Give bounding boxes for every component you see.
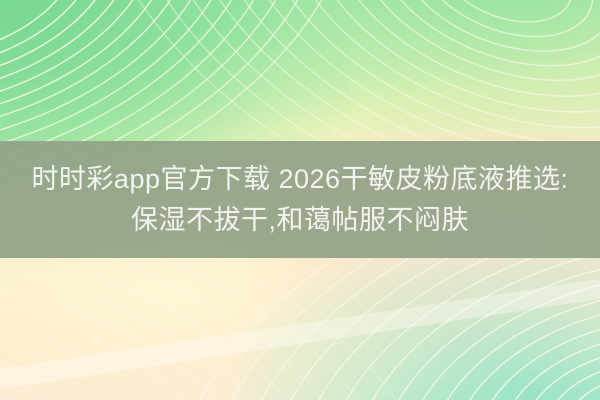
banner-image: 时时彩app官方下载 2026干敏皮粉底液推选: 保湿不拔干,和蔼帖服不闷肤 [0,0,600,400]
headline-line-2: 保湿不拔干,和蔼帖服不闷肤 [131,200,469,241]
headline-band: 时时彩app官方下载 2026干敏皮粉底液推选: 保湿不拔干,和蔼帖服不闷肤 [0,141,600,258]
headline-line-1: 时时彩app官方下载 2026干敏皮粉底液推选: [31,159,568,200]
